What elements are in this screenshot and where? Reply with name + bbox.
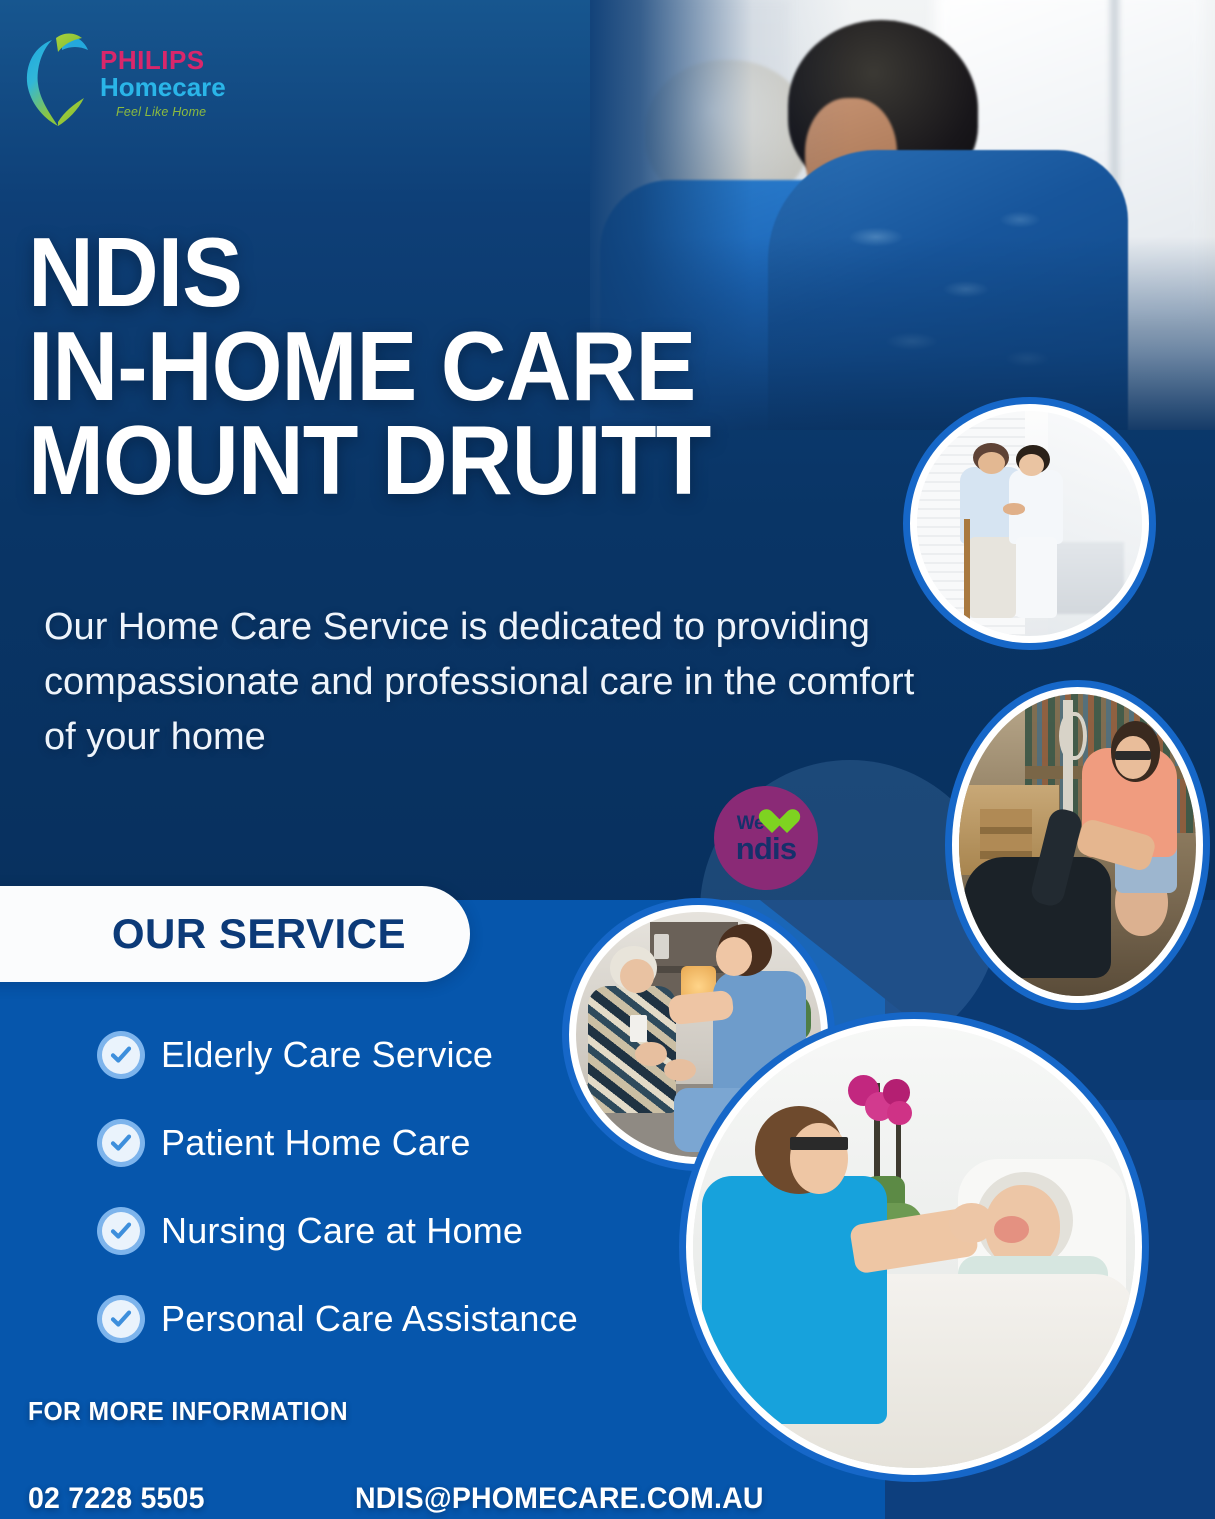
service-label: Elderly Care Service — [161, 1034, 493, 1076]
list-item[interactable]: Nursing Care at Home — [97, 1188, 697, 1273]
brand-logo[interactable]: PHILIPS Homecare Feel Like Home — [22, 18, 237, 138]
headline-line-2: IN-HOME CARE — [28, 319, 865, 413]
service-label: Nursing Care at Home — [161, 1210, 523, 1252]
photo-physiotherapy-image — [959, 694, 1196, 996]
contact-email[interactable]: NDIS@PHOMECARE.COM.AU — [355, 1482, 764, 1516]
service-label: Personal Care Assistance — [161, 1298, 578, 1340]
logo-tagline: Feel Like Home — [116, 105, 226, 119]
photo-ring-white — [910, 404, 1149, 643]
poster: PHILIPS Homecare Feel Like Home NDIS IN-… — [0, 0, 1215, 1519]
list-item[interactable]: Personal Care Assistance — [97, 1276, 697, 1361]
photo-ring-white — [952, 687, 1203, 1003]
ndis-word-text: ndis — [736, 833, 797, 864]
check-circle-icon — [97, 1119, 145, 1167]
logo-wordmark: PHILIPS Homecare Feel Like Home — [100, 37, 226, 119]
photo-physiotherapy — [945, 680, 1210, 1010]
we-love-ndis-badge: We ndis — [714, 786, 818, 890]
page-title: NDIS IN-HOME CARE MOUNT DRUITT — [28, 225, 865, 507]
photo-bedside-care-image — [693, 1026, 1135, 1468]
photo-bedside-care — [679, 1012, 1149, 1482]
heart-icon — [765, 807, 795, 835]
logo-homecare-text: Homecare — [100, 73, 226, 102]
headline-line-3: MOUNT DRUITT — [28, 413, 865, 507]
photo-walking-assistance — [903, 397, 1156, 650]
our-service-label: OUR SERVICE — [112, 910, 406, 958]
contact-heading: FOR MORE INFORMATION — [28, 1396, 348, 1427]
our-service-banner: OUR SERVICE — [0, 886, 470, 982]
service-list: Elderly Care Service Patient Home Care — [97, 1012, 697, 1364]
check-circle-icon — [97, 1031, 145, 1079]
hero-subtitle: Our Home Care Service is dedicated to pr… — [44, 600, 934, 765]
list-item[interactable]: Elderly Care Service — [97, 1012, 697, 1097]
photo-walking-image — [917, 411, 1142, 636]
check-circle-icon — [97, 1295, 145, 1343]
list-item[interactable]: Patient Home Care — [97, 1100, 697, 1185]
logo-philips-text: PHILIPS — [100, 47, 226, 73]
contact-phone[interactable]: 02 7228 5505 — [28, 1482, 205, 1516]
heart-swoosh-icon — [22, 26, 96, 130]
headline-line-1: NDIS — [28, 225, 865, 319]
photo-ring-white — [686, 1019, 1142, 1475]
service-label: Patient Home Care — [161, 1122, 471, 1164]
check-circle-icon — [97, 1207, 145, 1255]
